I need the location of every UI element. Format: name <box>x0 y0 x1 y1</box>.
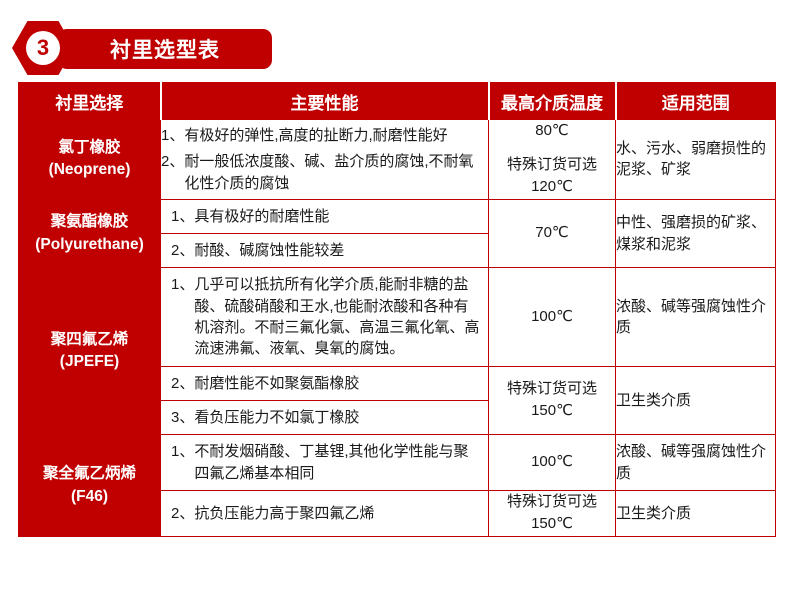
temp-line: 特殊订货可选 <box>489 491 615 514</box>
lining-name-cn: 氯丁橡胶 <box>58 139 120 156</box>
lining-name-cn: 聚全氟乙炳烯 <box>43 465 136 482</box>
performance-item-number: 2、 <box>161 151 184 194</box>
lining-name-cn: 聚氨酯橡胶 <box>51 213 129 230</box>
temp-line: 150℃ <box>489 400 615 423</box>
lining-name-en: (JPEFE) <box>19 351 160 373</box>
performance-item-text: 耐磨性能不如聚氨酯橡胶 <box>194 373 482 394</box>
table-header-row: 衬里选择 主要性能 最高介质温度 适用范围 <box>19 83 776 120</box>
cell-max-media-temp: 70℃ <box>489 199 616 268</box>
performance-item-number: 2、 <box>171 503 194 524</box>
cell-applicable-range: 卫生类介质 <box>616 366 776 435</box>
table-row: 聚氨酯橡胶(Polyurethane)1、具有极好的耐磨性能70℃中性、强磨损的… <box>19 199 776 233</box>
temp-line: 120℃ <box>489 176 615 199</box>
cell-lining-name: 聚氨酯橡胶(Polyurethane) <box>19 199 161 268</box>
performance-item-number: 1、 <box>171 274 194 359</box>
column-header-lining-choice: 衬里选择 <box>19 83 161 120</box>
section-number-circle: 3 <box>26 31 60 65</box>
performance-item: 2、抗负压能力高于聚四氟乙烯 <box>171 503 482 524</box>
performance-item-text: 耐一般低浓度酸、碱、盐介质的腐蚀,不耐氧化性介质的腐蚀 <box>184 151 488 194</box>
column-header-max-media-temp: 最高介质温度 <box>489 83 616 120</box>
cell-main-performance: 1、不耐发烟硝酸、丁基锂,其他化学性能与聚四氟乙烯基本相同 <box>161 435 489 491</box>
cell-max-media-temp: 100℃ <box>489 268 616 366</box>
performance-item: 1、有极好的弹性,高度的扯断力,耐磨性能好 <box>161 125 488 146</box>
lining-name-en: (F46) <box>19 486 160 508</box>
performance-item: 1、具有极好的耐磨性能 <box>171 206 482 227</box>
cell-applicable-range: 中性、强磨损的矿浆、煤浆和泥浆 <box>616 199 776 268</box>
cell-max-media-temp: 特殊订货可选150℃ <box>489 366 616 435</box>
cell-main-performance: 1、几乎可以抵抗所有化学介质,能耐非糖的盐酸、硫酸硝酸和王水,也能耐浓酸和各种有… <box>161 268 489 366</box>
column-header-main-performance: 主要性能 <box>161 83 489 120</box>
performance-item-text: 耐酸、碱腐蚀性能较差 <box>194 240 482 261</box>
cell-main-performance: 2、耐酸、碱腐蚀性能较差 <box>161 234 489 268</box>
page-title-pill: 衬里选型表 <box>58 29 272 69</box>
temp-line: 100℃ <box>489 306 615 329</box>
temp-spacer <box>489 143 615 154</box>
performance-item-number: 1、 <box>161 125 184 146</box>
page-title: 衬里选型表 <box>110 34 220 64</box>
cell-main-performance: 3、看负压能力不如氯丁橡胶 <box>161 400 489 434</box>
temp-line: 特殊订货可选 <box>489 154 615 177</box>
performance-item-number: 2、 <box>171 373 194 394</box>
cell-applicable-range: 卫生类介质 <box>616 490 776 536</box>
performance-item: 1、不耐发烟硝酸、丁基锂,其他化学性能与聚四氟乙烯基本相同 <box>171 441 482 484</box>
lining-name-en: (Neoprene) <box>19 159 160 181</box>
temp-line: 150℃ <box>489 513 615 536</box>
performance-item: 1、几乎可以抵抗所有化学介质,能耐非糖的盐酸、硫酸硝酸和王水,也能耐浓酸和各种有… <box>171 274 482 359</box>
cell-lining-name: 聚全氟乙炳烯(F46) <box>19 435 161 537</box>
cell-main-performance: 2、耐磨性能不如聚氨酯橡胶 <box>161 366 489 400</box>
temp-line: 100℃ <box>489 451 615 474</box>
cell-lining-name: 氯丁橡胶(Neoprene) <box>19 120 161 200</box>
performance-item-text: 抗负压能力高于聚四氟乙烯 <box>194 503 482 524</box>
table-row: 氯丁橡胶(Neoprene)1、有极好的弹性,高度的扯断力,耐磨性能好2、耐一般… <box>19 120 776 200</box>
performance-item-text: 看负压能力不如氯丁橡胶 <box>194 407 482 428</box>
performance-item-number: 1、 <box>171 206 194 227</box>
lining-name-en: (Polyurethane) <box>19 234 160 256</box>
cell-lining-name: 聚四氟乙烯(JPEFE) <box>19 268 161 435</box>
performance-item: 2、耐一般低浓度酸、碱、盐介质的腐蚀,不耐氧化性介质的腐蚀 <box>161 151 488 194</box>
cell-main-performance: 2、抗负压能力高于聚四氟乙烯 <box>161 490 489 536</box>
temp-line: 特殊订货可选 <box>489 378 615 401</box>
page-root: 3 衬里选型表 衬里选择 主要性能 最高介质温度 适用范围 氯丁橡胶(Neopr… <box>0 0 790 602</box>
performance-item: 2、耐酸、碱腐蚀性能较差 <box>171 240 482 261</box>
performance-item-text: 有极好的弹性,高度的扯断力,耐磨性能好 <box>184 125 488 146</box>
table-row: 聚全氟乙炳烯(F46)1、不耐发烟硝酸、丁基锂,其他化学性能与聚四氟乙烯基本相同… <box>19 435 776 491</box>
performance-item-text: 几乎可以抵抗所有化学介质,能耐非糖的盐酸、硫酸硝酸和王水,也能耐浓酸和各种有机溶… <box>194 274 482 359</box>
performance-item-number: 3、 <box>171 407 194 428</box>
lining-selection-table: 衬里选择 主要性能 最高介质温度 适用范围 氯丁橡胶(Neoprene)1、有极… <box>18 82 776 537</box>
performance-item-number: 2、 <box>171 240 194 261</box>
table-body: 氯丁橡胶(Neoprene)1、有极好的弹性,高度的扯断力,耐磨性能好2、耐一般… <box>19 120 776 537</box>
table-row: 聚四氟乙烯(JPEFE)1、几乎可以抵抗所有化学介质,能耐非糖的盐酸、硫酸硝酸和… <box>19 268 776 366</box>
cell-applicable-range: 浓酸、碱等强腐蚀性介质 <box>616 268 776 366</box>
section-header: 3 衬里选型表 <box>0 22 74 74</box>
performance-item-number: 1、 <box>171 441 194 484</box>
cell-max-media-temp: 80℃特殊订货可选120℃ <box>489 120 616 200</box>
cell-main-performance: 1、具有极好的耐磨性能 <box>161 199 489 233</box>
performance-item: 2、耐磨性能不如聚氨酯橡胶 <box>171 373 482 394</box>
cell-main-performance: 1、有极好的弹性,高度的扯断力,耐磨性能好2、耐一般低浓度酸、碱、盐介质的腐蚀,… <box>161 120 489 200</box>
column-header-applicable-range: 适用范围 <box>616 83 776 120</box>
performance-item: 3、看负压能力不如氯丁橡胶 <box>171 407 482 428</box>
cell-applicable-range: 水、污水、弱磨损性的泥浆、矿浆 <box>616 120 776 200</box>
lining-name-cn: 聚四氟乙烯 <box>51 331 129 348</box>
section-number-text: 3 <box>37 37 49 59</box>
performance-item-text: 不耐发烟硝酸、丁基锂,其他化学性能与聚四氟乙烯基本相同 <box>194 441 482 484</box>
temp-line: 80℃ <box>489 120 615 143</box>
cell-applicable-range: 浓酸、碱等强腐蚀性介质 <box>616 435 776 491</box>
performance-item-text: 具有极好的耐磨性能 <box>194 206 482 227</box>
temp-line: 70℃ <box>489 222 615 245</box>
cell-max-media-temp: 特殊订货可选150℃ <box>489 490 616 536</box>
cell-max-media-temp: 100℃ <box>489 435 616 491</box>
lining-selection-table-wrap: 衬里选择 主要性能 最高介质温度 适用范围 氯丁橡胶(Neoprene)1、有极… <box>18 82 775 537</box>
